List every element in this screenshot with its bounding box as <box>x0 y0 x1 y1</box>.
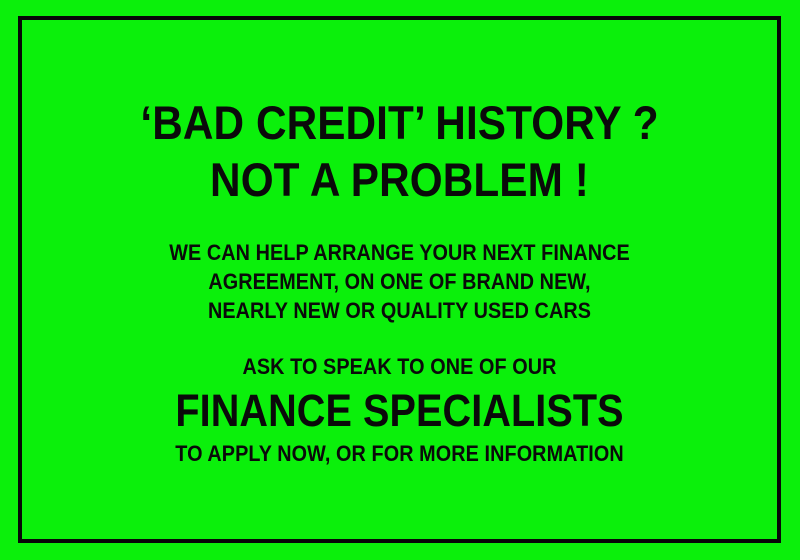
headline-block: ‘BAD CREDIT’ HISTORY ? NOT A PROBLEM ! <box>22 94 777 208</box>
intro-paragraph: WE CAN HELP ARRANGE YOUR NEXT FINANCE AG… <box>22 238 777 325</box>
headline-line-2: NOT A PROBLEM ! <box>60 151 740 208</box>
intro-line-1: WE CAN HELP ARRANGE YOUR NEXT FINANCE <box>60 238 740 267</box>
intro-line-2: AGREEMENT, ON ONE OF BRAND NEW, <box>60 267 740 296</box>
poster-content: ‘BAD CREDIT’ HISTORY ? NOT A PROBLEM ! W… <box>22 20 777 539</box>
headline-line-1: ‘BAD CREDIT’ HISTORY ? <box>60 94 740 151</box>
cta-lead-line: ASK TO SPEAK TO ONE OF OUR <box>60 352 740 382</box>
cta-emphasis-line: FINANCE SPECIALISTS <box>67 382 731 439</box>
call-to-action-block: ASK TO SPEAK TO ONE OF OUR FINANCE SPECI… <box>22 352 777 469</box>
intro-line-3: NEARLY NEW OR QUALITY USED CARS <box>60 296 740 325</box>
advertisement-poster: ‘BAD CREDIT’ HISTORY ? NOT A PROBLEM ! W… <box>0 0 800 560</box>
cta-footer-line: TO APPLY NOW, OR FOR MORE INFORMATION <box>60 439 740 469</box>
